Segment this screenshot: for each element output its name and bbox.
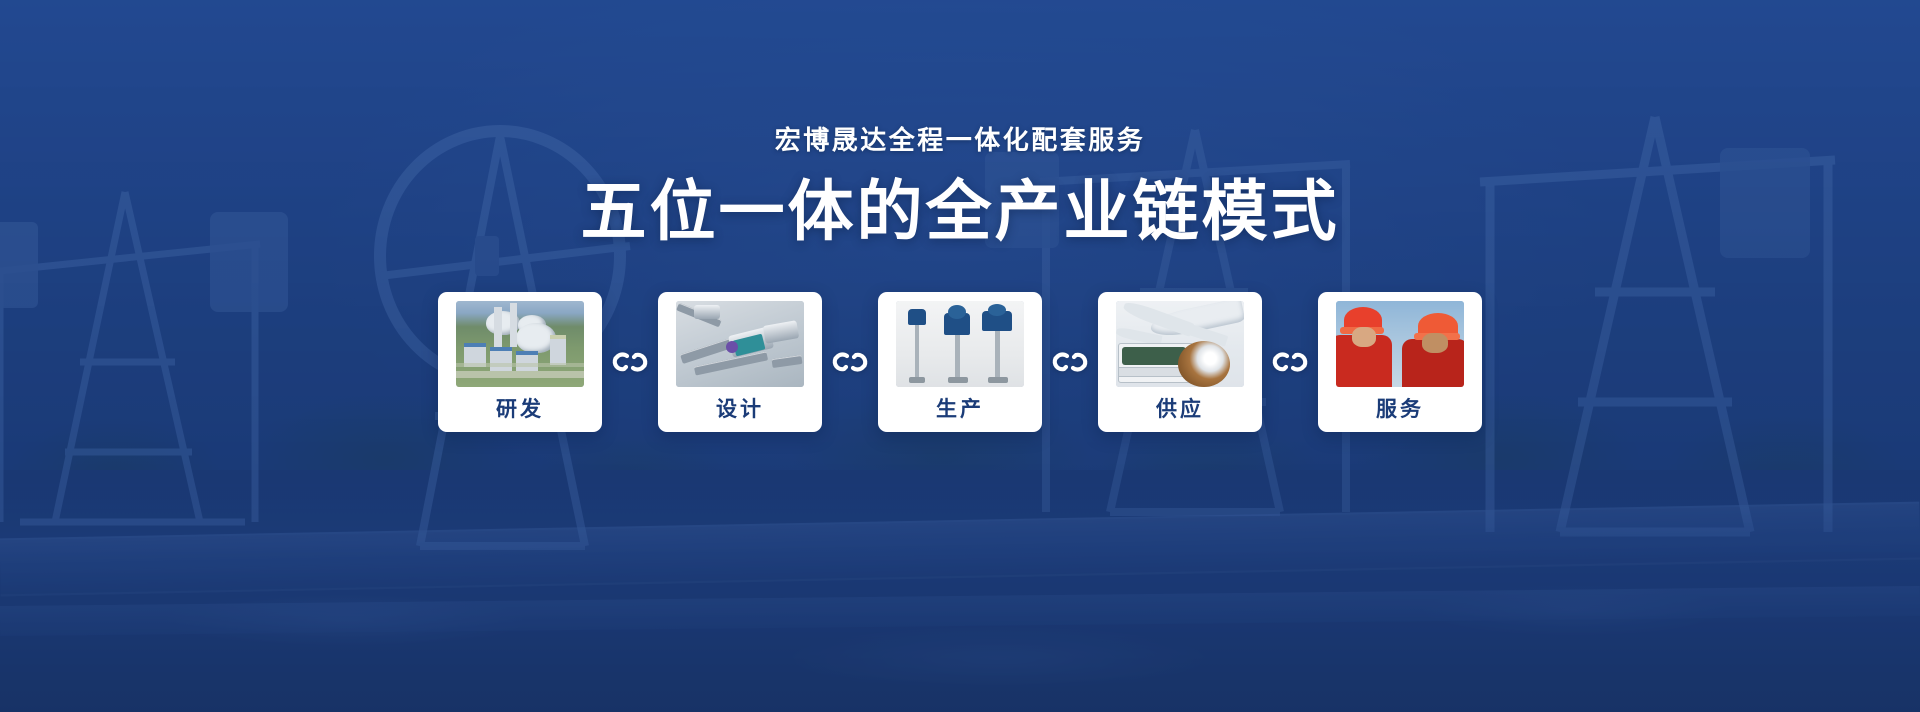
chain-link-icon [1042, 349, 1098, 375]
chain-card-production[interactable]: 生产 [878, 292, 1042, 432]
chain-card-label: 设计 [716, 387, 764, 432]
chain-card-thumbnail [456, 301, 584, 387]
chain-card-supply[interactable]: 供应 [1098, 292, 1262, 432]
chain-card-research[interactable]: 研发 [438, 292, 602, 432]
banner-subtitle: 宏博晟达全程一体化配套服务 [775, 120, 1146, 157]
chain-card-design[interactable]: 设计 [658, 292, 822, 432]
chain-link-icon [822, 349, 878, 375]
chain-card-thumbnail [896, 301, 1024, 387]
chain-card-thumbnail [676, 301, 804, 387]
chain-link-icon [602, 349, 658, 375]
chain-link-icon [1262, 349, 1318, 375]
chain-card-thumbnail [1116, 301, 1244, 387]
chain-card-label: 供应 [1156, 387, 1204, 432]
banner-content: 宏博晟达全程一体化配套服务 五位一体的全产业链模式 [0, 0, 1920, 712]
chain-card-thumbnail [1336, 301, 1464, 387]
chain-card-label: 服务 [1376, 387, 1424, 432]
chain-card-label: 生产 [936, 387, 984, 432]
chain-card-label: 研发 [496, 387, 544, 432]
value-chain-row: 研发 [438, 292, 1482, 432]
chain-card-service[interactable]: 服务 [1318, 292, 1482, 432]
banner-title: 五位一体的全产业链模式 [581, 177, 1340, 246]
hero-banner: 宏博晟达全程一体化配套服务 五位一体的全产业链模式 [0, 0, 1920, 712]
